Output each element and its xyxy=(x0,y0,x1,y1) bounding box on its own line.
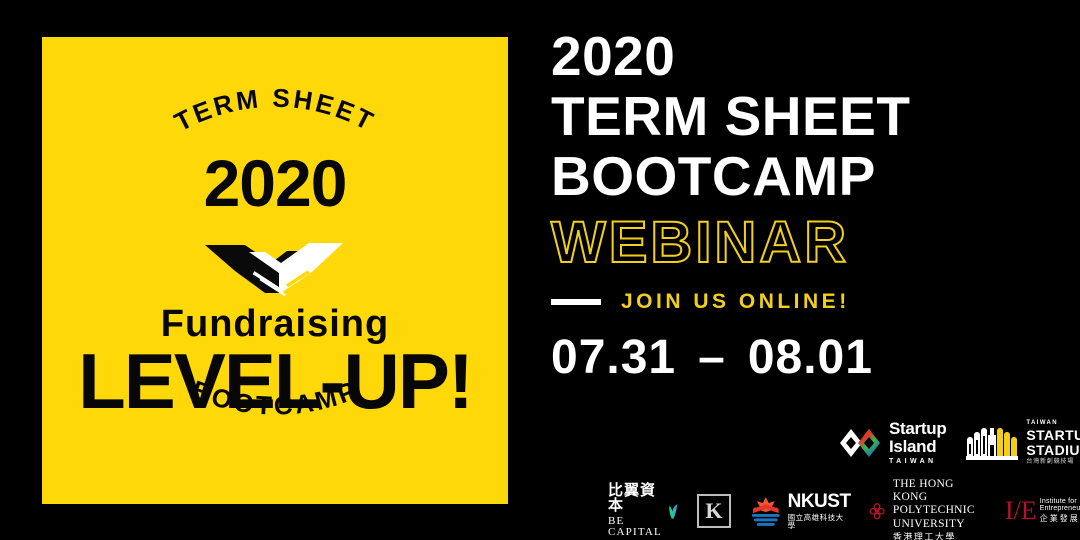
yellow-badge-panel: TERM SHEET 2020 Fundraising LEVEL-UP! xyxy=(42,37,508,504)
be-capital-wordmark: 比翼資本 BE CAPITAL xyxy=(608,483,665,538)
badge-artwork: TERM SHEET 2020 Fundraising LEVEL-UP! xyxy=(42,37,508,504)
headline-bootcamp: BOOTCAMP xyxy=(551,146,1061,206)
polyu-line-2: POLYTECHNIC UNIVERSITY xyxy=(893,504,987,530)
logo-k: K xyxy=(697,494,731,528)
ss-line-3: 台灣新創競技場 xyxy=(1026,459,1080,465)
logo-nkust: NKUST 國立高雄科技大學 xyxy=(749,492,851,529)
sunrise-book-icon xyxy=(749,495,783,527)
polyu-knot-icon xyxy=(869,496,887,526)
logo-be-capital: 比翼資本 BE CAPITAL xyxy=(608,483,679,538)
date-end: 08.01 xyxy=(748,331,873,384)
date-start: 07.31 xyxy=(551,331,676,384)
dash-rule-icon xyxy=(551,299,601,305)
be-capital-cn: 比翼資本 xyxy=(608,483,665,513)
handshake-icon xyxy=(205,243,343,296)
be-capital-en: BE CAPITAL xyxy=(608,516,665,538)
badge-arc-top-text: TERM SHEET xyxy=(169,83,380,138)
startup-stadium-wordmark: TAIWAN STARTUP STADIUM 台灣新創競技場 xyxy=(1026,420,1080,465)
polyu-line-1: THE HONG KONG xyxy=(893,478,987,504)
promo-banner: TERM SHEET 2020 Fundraising LEVEL-UP! xyxy=(0,0,1080,540)
ie-line-1: Institute for Entrepreneurship xyxy=(1040,498,1080,512)
join-us-row: JOIN US ONLINE! xyxy=(551,290,1061,314)
nkust-wordmark: NKUST 國立高雄科技大學 xyxy=(788,492,851,529)
ie-wordmark: Institute for Entrepreneurship 企業發展院 xyxy=(1040,498,1080,523)
nkust-line-1: NKUST xyxy=(788,492,851,511)
join-us-online-label: JOIN US ONLINE! xyxy=(621,290,850,314)
si-line-1: Startup xyxy=(889,420,946,437)
letter-k-icon: K xyxy=(697,494,731,528)
badge-year: 2020 xyxy=(204,146,347,220)
nkust-line-2: 國立高雄科技大學 xyxy=(788,514,851,529)
logo-institute-for-entrepreneurship: I/E Institute for Entrepreneurship 企業發展院 xyxy=(1005,498,1080,524)
startup-island-wordmark: Startup Island TAIWAN xyxy=(889,420,946,465)
si-line-3: TAIWAN xyxy=(889,458,946,465)
date-separator: – xyxy=(676,331,748,384)
headline-year: 2020 xyxy=(551,26,1061,86)
polyu-line-3: 香港理工大學 xyxy=(893,533,987,540)
ie-line-2: 企業發展院 xyxy=(1040,515,1080,523)
partner-logo-row: 比翼資本 BE CAPITAL K NKUST 國立高 xyxy=(608,478,1080,540)
leaf-icon xyxy=(668,501,679,521)
headline-term-sheet: TERM SHEET xyxy=(551,86,1061,146)
si-line-2: Island xyxy=(889,438,946,455)
polyu-wordmark: THE HONG KONG POLYTECHNIC UNIVERSITY 香港理… xyxy=(893,478,987,540)
ss-line-2: STADIUM xyxy=(1026,443,1080,457)
logo-polyu: THE HONG KONG POLYTECHNIC UNIVERSITY 香港理… xyxy=(869,478,987,540)
stadium-skyline-icon xyxy=(964,423,1020,463)
ss-line-1: STARTUP xyxy=(1026,428,1080,442)
ie-monogram-icon: I/E xyxy=(1005,498,1037,524)
logo-taiwan-startup-stadium: TAIWAN STARTUP STADIUM 台灣新創競技場 xyxy=(964,420,1080,465)
logo-startup-island-taiwan: Startup Island TAIWAN xyxy=(838,420,946,465)
event-dates: 07.31–08.01 xyxy=(551,330,1061,385)
ss-line-0: TAIWAN xyxy=(1026,420,1080,426)
k-letter: K xyxy=(705,500,722,522)
headline-webinar-outline: WEBINAR xyxy=(551,212,1061,274)
double-diamond-icon xyxy=(838,427,882,459)
primary-logo-row: Startup Island TAIWAN xyxy=(838,420,1080,465)
